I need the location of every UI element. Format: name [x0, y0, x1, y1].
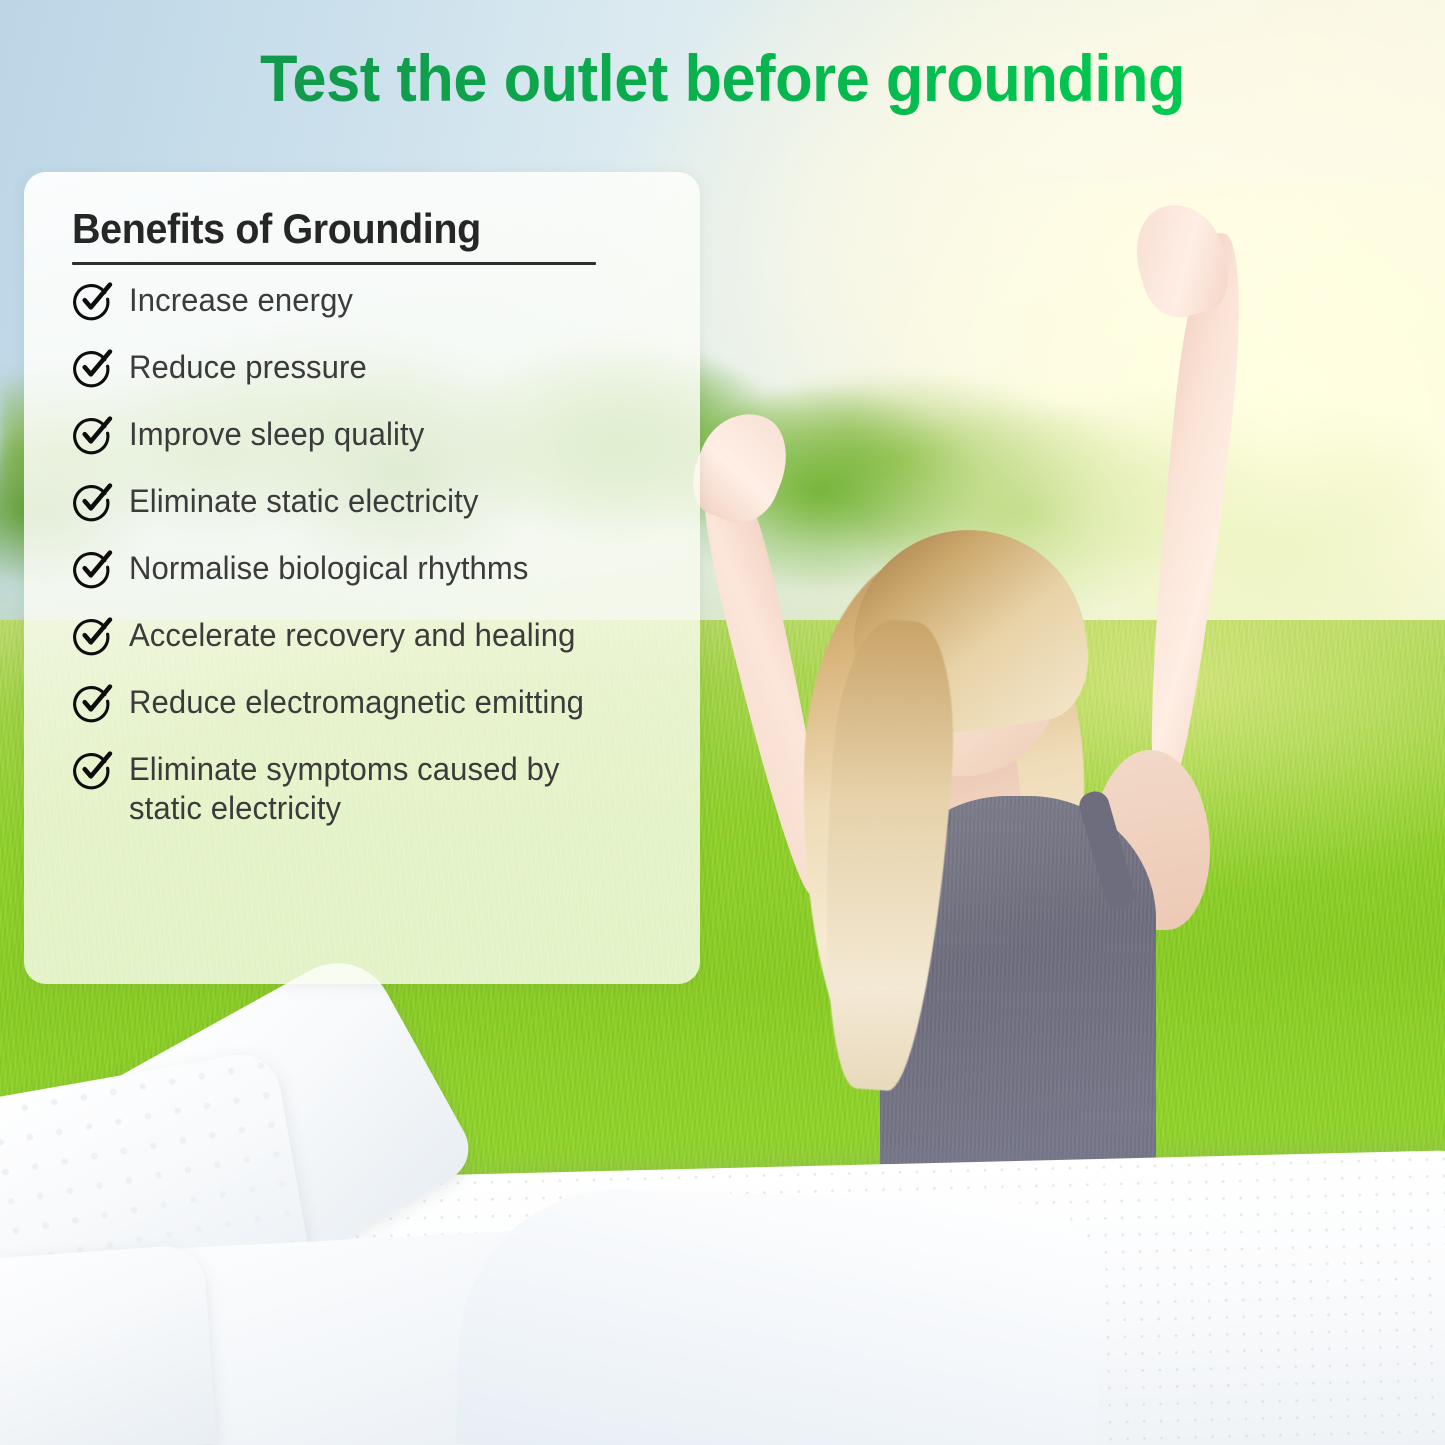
infographic-canvas: Test the outlet before grounding Benefit…	[0, 0, 1445, 1445]
list-item: Reduce pressure	[72, 348, 672, 388]
check-circle-icon	[72, 748, 114, 790]
benefits-card: Benefits of Grounding Increase energy Re	[24, 172, 700, 984]
list-item-label: Reduce electromagnetic emitting	[129, 683, 584, 722]
list-item: Eliminate static electricity	[72, 482, 672, 522]
list-item-label: Eliminate symptoms caused by static elec…	[129, 750, 626, 828]
benefits-list: Increase energy Reduce pressure Improve …	[72, 281, 672, 828]
check-circle-icon	[72, 480, 114, 522]
list-item-label: Improve sleep quality	[129, 415, 424, 454]
list-item: Reduce electromagnetic emitting	[72, 683, 672, 723]
list-item-label: Normalise biological rhythms	[129, 549, 528, 588]
check-circle-icon	[72, 681, 114, 723]
list-item-label: Reduce pressure	[129, 348, 367, 387]
card-heading: Benefits of Grounding	[72, 206, 481, 252]
page-headline: Test the outlet before grounding	[51, 40, 1395, 116]
list-item: Improve sleep quality	[72, 415, 672, 455]
list-item-label: Eliminate static electricity	[129, 482, 478, 521]
check-circle-icon	[72, 614, 114, 656]
check-circle-icon	[72, 346, 114, 388]
list-item-label: Accelerate recovery and healing	[129, 616, 575, 655]
list-item: Accelerate recovery and healing	[72, 616, 672, 656]
pillow-left-edge	[0, 1244, 217, 1445]
card-heading-underline	[72, 262, 596, 265]
right-arm	[1135, 231, 1251, 794]
list-item-label: Increase energy	[129, 281, 353, 320]
check-circle-icon	[72, 547, 114, 589]
list-item: Normalise biological rhythms	[72, 549, 672, 589]
list-item: Eliminate symptoms caused by static elec…	[72, 750, 672, 828]
check-circle-icon	[72, 279, 114, 321]
check-circle-icon	[72, 413, 114, 455]
duvet-right	[456, 1184, 1105, 1445]
list-item: Increase energy	[72, 281, 672, 321]
